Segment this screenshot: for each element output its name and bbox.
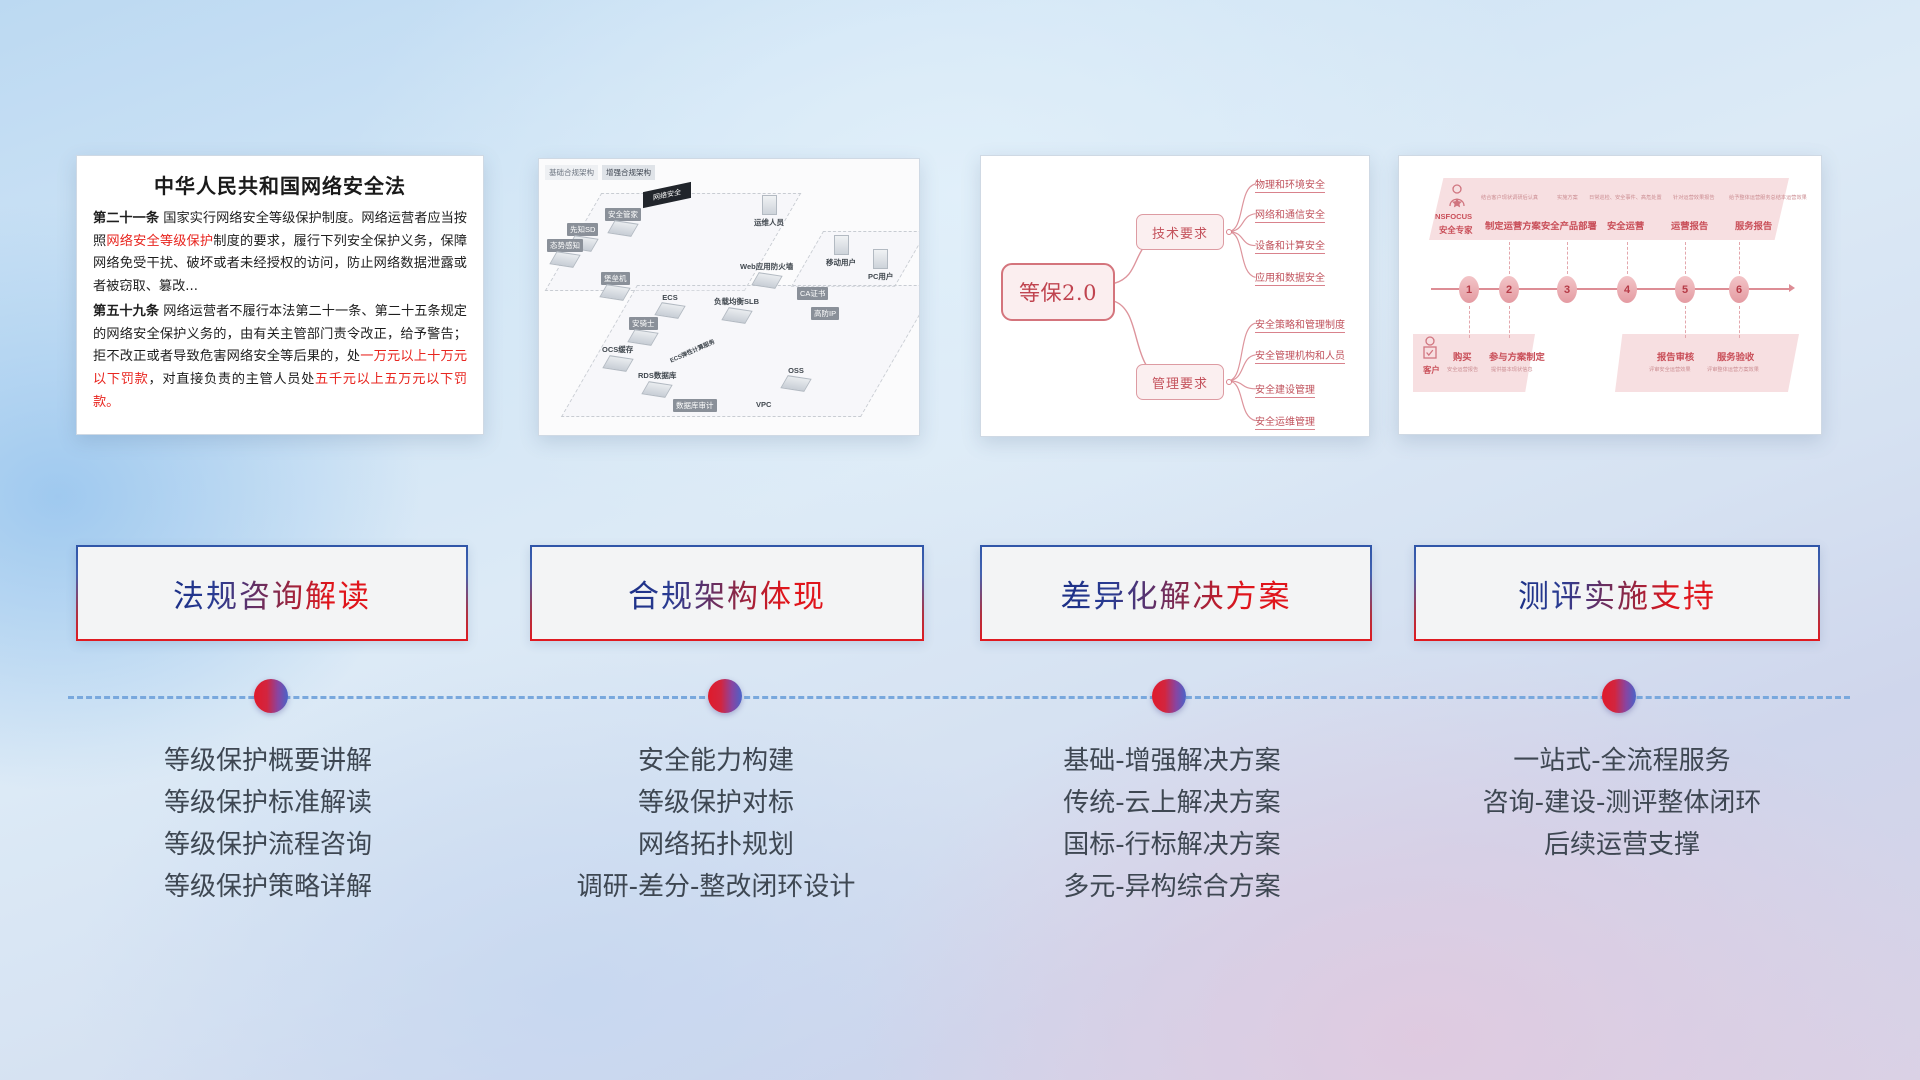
nsfocus-brand: NSFOCUS: [1435, 212, 1472, 221]
nsfocus-bottom-sub-4: 评审整体运营方案效果: [1707, 366, 1759, 373]
detail-item: 等级保护概要讲解: [58, 740, 478, 782]
section-title-inner-3: 差异化解决方案: [982, 547, 1370, 639]
arch-node-ecs: ECS: [657, 292, 683, 317]
nsfocus-connector-3: [1567, 242, 1568, 274]
arch-node-ecs-elastic: ECS弹性计算服务: [665, 345, 719, 356]
mindmap-collapse-dot-management[interactable]: [1226, 379, 1232, 385]
timeline-dot-3[interactable]: [1152, 679, 1186, 713]
mindmap-collapse-dot-technical[interactable]: [1226, 229, 1232, 235]
section-title-box-1[interactable]: 法规咨询解读: [76, 545, 468, 641]
nsfocus-top-sub-5: 给予整体运营服务总结本运营效果: [1729, 194, 1807, 201]
detail-column-4: 一站式-全流程服务 咨询-建设-测评整体闭环 后续运营支撑: [1400, 740, 1844, 866]
nsfocus-connector-6: [1739, 242, 1740, 274]
arch-node-oss: OSS: [783, 365, 809, 390]
nsfocus-top-main-4: 运营报告: [1671, 218, 1708, 232]
mindmap-leaf-physical-env: 物理和环境安全: [1255, 176, 1325, 193]
timeline-dot-4[interactable]: [1602, 679, 1636, 713]
nsfocus-step-6[interactable]: 6: [1729, 276, 1749, 303]
nsfocus-top-sub-4: 针对运营效果报告: [1673, 194, 1715, 201]
nsfocus-bottom-sub-2: 提供基本现状信息: [1491, 366, 1533, 373]
nsfocus-top-main-2: 安全产品部署: [1541, 218, 1597, 232]
detail-item: 安全能力构建: [500, 740, 932, 782]
mindmap-leaf-network-comm: 网络和通信安全: [1255, 206, 1325, 223]
section-title-inner-4: 测评实施支持: [1416, 547, 1818, 639]
nsfocus-timeline-arrow-icon: [1789, 284, 1795, 292]
section-title-box-2[interactable]: 合规架构体现: [530, 545, 924, 641]
card-cybersecurity-law[interactable]: 中华人民共和国网络安全法 第二十一条 国家实行网络安全等级保护制度。网络运营者应…: [76, 155, 484, 435]
arch-node-pc-user: PC用户: [865, 249, 896, 283]
mindmap-leaf-app-data: 应用和数据安全: [1255, 269, 1325, 286]
section-title-inner-1: 法规咨询解读: [78, 547, 466, 639]
section-title-inner-2: 合规架构体现: [532, 547, 922, 639]
nsfocus-connector-b5: [1685, 306, 1686, 338]
mindmap-leaf-policy-system: 安全策略和管理制度: [1255, 316, 1345, 333]
arch-node-security-butler: 安全管家: [605, 208, 641, 235]
detail-item: 后续运营支撑: [1400, 824, 1844, 866]
arch-node-vpc: VPC: [753, 399, 774, 410]
arch-node-mobile-user: 移动用户: [823, 235, 859, 269]
detail-item: 多元-异构综合方案: [952, 866, 1392, 908]
thumbnail-card-row: 中华人民共和国网络安全法 第二十一条 国家实行网络安全等级保护制度。网络运营者应…: [0, 0, 1920, 460]
arch-node-ocs-cache: OCS缓存: [599, 343, 636, 370]
law-paragraph-59: 第五十九条 网络运营者不履行本法第二十一条、第二十五条规定的网络安全保护义务的，…: [93, 301, 467, 415]
law-title: 中华人民共和国网络安全法: [93, 170, 467, 199]
nsfocus-bottom-sub-3: 评审安全运营效果: [1649, 366, 1691, 373]
nsfocus-top-sub-3: 日常巡检、安全事件、高危处置: [1589, 194, 1662, 201]
mindmap-root-node: 等保2.0: [1001, 263, 1115, 321]
card-cloud-architecture[interactable]: 基础合规架构 增强合规架构 网络安全 安全管家 先知SD 态势感知 堡垒机 EC…: [538, 158, 920, 436]
section-title-label-1: 法规咨询解读: [173, 571, 371, 616]
nsfocus-bottom-main-1: 购买: [1453, 349, 1472, 363]
nsfocus-top-sub-1: 结合客户现状调研后认真: [1481, 194, 1538, 201]
arch-node-rds-database: RDS数据库: [635, 369, 679, 396]
nsfocus-connector-5: [1685, 242, 1686, 274]
nsfocus-bottom-main-2: 参与方案制定: [1489, 349, 1545, 363]
detail-column-3: 基础-增强解决方案 传统-云上解决方案 国标-行标解决方案 多元-异构综合方案: [952, 740, 1392, 908]
detail-item: 网络拓扑规划: [500, 824, 932, 866]
tab-basic-compliance[interactable]: 基础合规架构: [545, 165, 598, 180]
security-expert-icon: [1447, 184, 1467, 208]
detail-item: 等级保护对标: [500, 782, 932, 824]
arch-node-anqishi: 安骑士: [629, 317, 658, 344]
mindmap-branch-management: 管理要求: [1136, 364, 1224, 400]
detail-item: 基础-增强解决方案: [952, 740, 1392, 782]
detail-item: 国标-行标解决方案: [952, 824, 1392, 866]
arch-node-situational-awareness: 态势感知: [547, 239, 583, 266]
nsfocus-step-5[interactable]: 5: [1675, 276, 1695, 303]
nsfocus-step-3[interactable]: 3: [1557, 276, 1577, 303]
timeline-dot-1[interactable]: [254, 679, 288, 713]
law-text-segment: ，对直接负责的主管人员处: [149, 372, 316, 387]
section-title-box-3[interactable]: 差异化解决方案: [980, 545, 1372, 641]
detail-item: 一站式-全流程服务: [1400, 740, 1844, 782]
mindmap-leaf-construction: 安全建设管理: [1255, 381, 1315, 398]
mindmap-leaf-device-compute: 设备和计算安全: [1255, 237, 1325, 254]
arch-node-anti-ddos-ip: 高防IP: [811, 307, 839, 320]
section-title-label-3: 差异化解决方案: [1061, 571, 1292, 616]
law-article-number: 第二十一条: [93, 211, 159, 226]
timeline-dashed-line: [68, 696, 1850, 699]
law-paragraph-21: 第二十一条 国家实行网络安全等级保护制度。网络运营者应当按照网络安全等级保护制度…: [93, 208, 467, 299]
mindmap-leaf-org-personnel: 安全管理机构和人员: [1255, 347, 1345, 364]
nsfocus-top-main-5: 服务报告: [1735, 218, 1772, 232]
detail-column-2: 安全能力构建 等级保护对标 网络拓扑规划 调研-差分-整改闭环设计: [500, 740, 932, 908]
mindmap-leaf-operation: 安全运维管理: [1255, 413, 1315, 430]
nsfocus-bottom-sub-1: 安全运营报告: [1447, 366, 1478, 373]
nsfocus-top-main-3: 安全运营: [1607, 218, 1644, 232]
nsfocus-connector-b2: [1509, 306, 1510, 338]
detail-item: 等级保护策略详解: [58, 866, 478, 908]
law-article-number: 第五十九条: [93, 304, 159, 319]
timeline-dot-2[interactable]: [708, 679, 742, 713]
card-mindmap-dengbao[interactable]: 等保2.0 技术要求 物理和环境安全 网络和通信安全 设备和计算安全 应用和数据…: [980, 155, 1370, 437]
nsfocus-step-4[interactable]: 4: [1617, 276, 1637, 303]
nsfocus-top-sub-2: 实施方案: [1557, 194, 1578, 201]
nsfocus-connector-4: [1627, 242, 1628, 274]
card-nsfocus-service-flow[interactable]: NSFOCUS 安全专家 结合客户现状调研后认真 制定运营方案 实施方案 安全产…: [1398, 155, 1822, 435]
section-title-label-2: 合规架构体现: [628, 571, 826, 616]
nsfocus-connector-b1: [1469, 306, 1470, 338]
section-title-box-4[interactable]: 测评实施支持: [1414, 545, 1820, 641]
arch-node-waf: Web应用防火墙: [737, 260, 796, 287]
detail-item: 传统-云上解决方案: [952, 782, 1392, 824]
detail-column-1: 等级保护概要讲解 等级保护标准解读 等级保护流程咨询 等级保护策略详解: [58, 740, 478, 908]
detail-item: 调研-差分-整改闭环设计: [500, 866, 932, 908]
arch-node-db-audit: 数据库审计: [673, 399, 717, 412]
customer-icon: [1421, 336, 1439, 362]
tab-enhanced-compliance[interactable]: 增强合规架构: [602, 165, 655, 180]
slide-canvas: 中华人民共和国网络安全法 第二十一条 国家实行网络安全等级保护制度。网络运营者应…: [0, 0, 1920, 1080]
nsfocus-bottom-band-right: [1615, 334, 1799, 392]
arch-node-slb: 负载均衡SLB: [711, 295, 762, 322]
arch-node-bastion-host: 堡垒机: [601, 272, 630, 299]
nsfocus-customer-role: 客户: [1423, 364, 1440, 376]
nsfocus-connector-b6: [1739, 306, 1740, 338]
nsfocus-expert-role: 安全专家: [1439, 224, 1473, 236]
detail-item: 咨询-建设-测评整体闭环: [1400, 782, 1844, 824]
nsfocus-top-main-1: 制定运营方案: [1485, 218, 1541, 232]
detail-item: 等级保护流程咨询: [58, 824, 478, 866]
nsfocus-step-1[interactable]: 1: [1459, 276, 1479, 303]
detail-item: 等级保护标准解读: [58, 782, 478, 824]
nsfocus-step-2[interactable]: 2: [1499, 276, 1519, 303]
nsfocus-bottom-main-3: 报告审核: [1657, 349, 1694, 363]
nsfocus-bottom-main-4: 服务验收: [1717, 349, 1754, 363]
section-title-label-4: 测评实施支持: [1518, 571, 1716, 616]
arch-node-ca-certificate: CA证书: [797, 287, 828, 300]
architecture-tab-group[interactable]: 基础合规架构 增强合规架构: [545, 165, 655, 180]
nsfocus-connector-2: [1509, 242, 1510, 274]
mindmap-branch-technical: 技术要求: [1136, 214, 1224, 250]
law-text-highlight: 网络安全等级保护: [106, 234, 213, 249]
arch-node-ops-personnel: 运维人员: [751, 195, 787, 229]
